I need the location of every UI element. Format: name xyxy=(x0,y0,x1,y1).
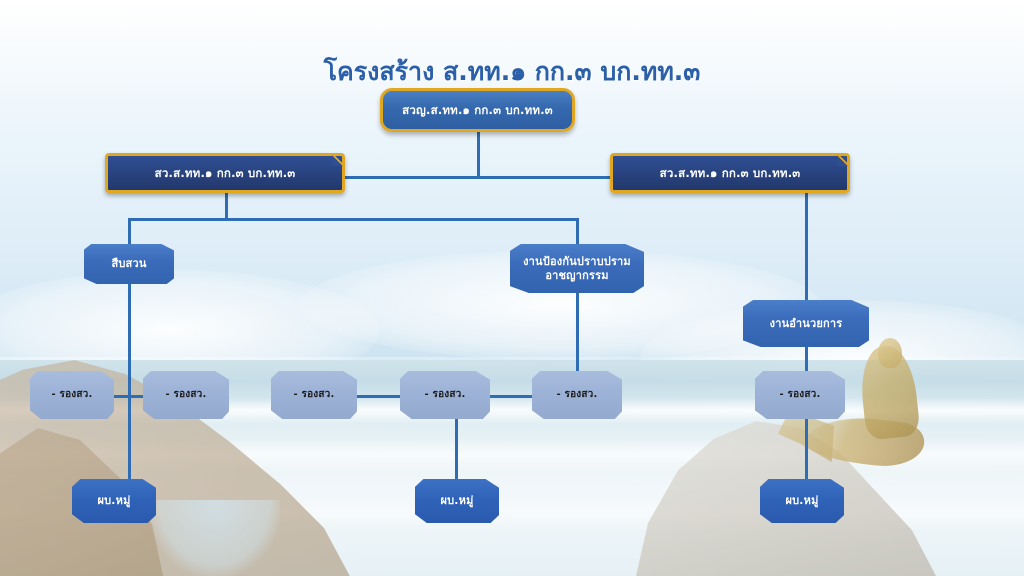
node-rongsawo-2-label: - รองสว. xyxy=(161,389,210,401)
connector-prevention-to-pobmu xyxy=(455,412,458,481)
connector-section-bus-left xyxy=(128,218,578,221)
surf-line xyxy=(0,438,1024,472)
node-rongsawo-6[interactable]: - รองสว. xyxy=(755,371,845,419)
node-deputy-right[interactable]: สว.ส.ทท.๑ กก.๓ บก.ทท.๓ xyxy=(610,153,850,193)
node-section-investigation[interactable]: สืบสวน xyxy=(84,244,174,284)
connector-admin-down xyxy=(805,192,808,300)
connector-sueb-suan-to-pobmu xyxy=(128,395,131,481)
node-pobmu-1[interactable]: ผบ.หมู่ xyxy=(72,479,156,523)
node-deputy-left-label: สว.ส.ทท.๑ กก.๓ บก.ทท.๓ xyxy=(151,166,300,180)
mermaid-statue-tail xyxy=(804,411,927,471)
node-rongsawo-4-label: - รองสว. xyxy=(420,389,469,401)
node-rongsawo-5-label: - รองสว. xyxy=(552,389,601,401)
node-section-administration[interactable]: งานอำนวยการ xyxy=(743,300,869,347)
connector-admin-to-pobmu xyxy=(805,412,808,481)
mermaid-statue-body xyxy=(857,343,920,440)
node-section-crime-prevention[interactable]: งานป้องกันปราบปราม อาชญากรรม xyxy=(510,244,644,293)
node-pobmu-2-label: ผบ.หมู่ xyxy=(436,494,477,507)
node-rongsawo-5[interactable]: - รองสว. xyxy=(532,371,622,419)
node-rongsawo-1[interactable]: - รองสว. xyxy=(30,371,114,419)
node-section-investigation-label: สืบสวน xyxy=(107,257,150,270)
node-pobmu-2[interactable]: ผบ.หมู่ xyxy=(415,479,499,523)
node-pobmu-1-label: ผบ.หมู่ xyxy=(93,494,134,507)
connector-to-prevention xyxy=(576,218,579,244)
node-rongsawo-4[interactable]: - รองสว. xyxy=(400,371,490,419)
rock-arch-opening xyxy=(150,500,280,576)
node-rongsawo-6-label: - รองสว. xyxy=(775,389,824,401)
connector-chief-down xyxy=(477,131,480,178)
node-deputy-left[interactable]: สว.ส.ทท.๑ กก.๓ บก.ทท.๓ xyxy=(105,153,345,193)
node-rongsawo-3[interactable]: - รองสว. xyxy=(271,371,357,419)
node-section-crime-prevention-label-line1: งานป้องกันปราบปราม xyxy=(519,255,635,268)
node-chief[interactable]: สวญ.ส.ทท.๑ กก.๓ บก.ทท.๓ xyxy=(380,88,575,132)
connector-to-sueb-suan xyxy=(128,218,131,244)
node-chief-label: สวญ.ส.ทท.๑ กก.๓ บก.ทท.๓ xyxy=(398,103,557,117)
node-pobmu-3-label: ผบ.หมู่ xyxy=(781,494,822,507)
node-rongsawo-3-label: - รองสว. xyxy=(289,389,338,401)
node-pobmu-3[interactable]: ผบ.หมู่ xyxy=(760,479,844,523)
mermaid-statue-head xyxy=(878,338,902,368)
connector-admin-to-rongsawo xyxy=(805,347,808,373)
node-deputy-right-label: สว.ส.ทท.๑ กก.๓ บก.ทท.๓ xyxy=(656,166,805,180)
connector-deputy-left-down xyxy=(225,192,228,220)
node-section-administration-label: งานอำนวยการ xyxy=(766,317,847,330)
node-rongsawo-2[interactable]: - รองสว. xyxy=(143,371,229,419)
node-section-crime-prevention-label-line2: อาชญากรรม xyxy=(541,269,612,282)
org-chart-slide: โครงสร้าง ส.ทท.๑ กก.๓ บก.ทท.๓ สวญ.ส.ทท.๑… xyxy=(0,0,1024,576)
page-title: โครงสร้าง ส.ทท.๑ กก.๓ บก.ทท.๓ xyxy=(0,52,1024,92)
node-rongsawo-1-label: - รองสว. xyxy=(47,389,96,401)
connector-sueb-suan-down xyxy=(128,283,131,395)
